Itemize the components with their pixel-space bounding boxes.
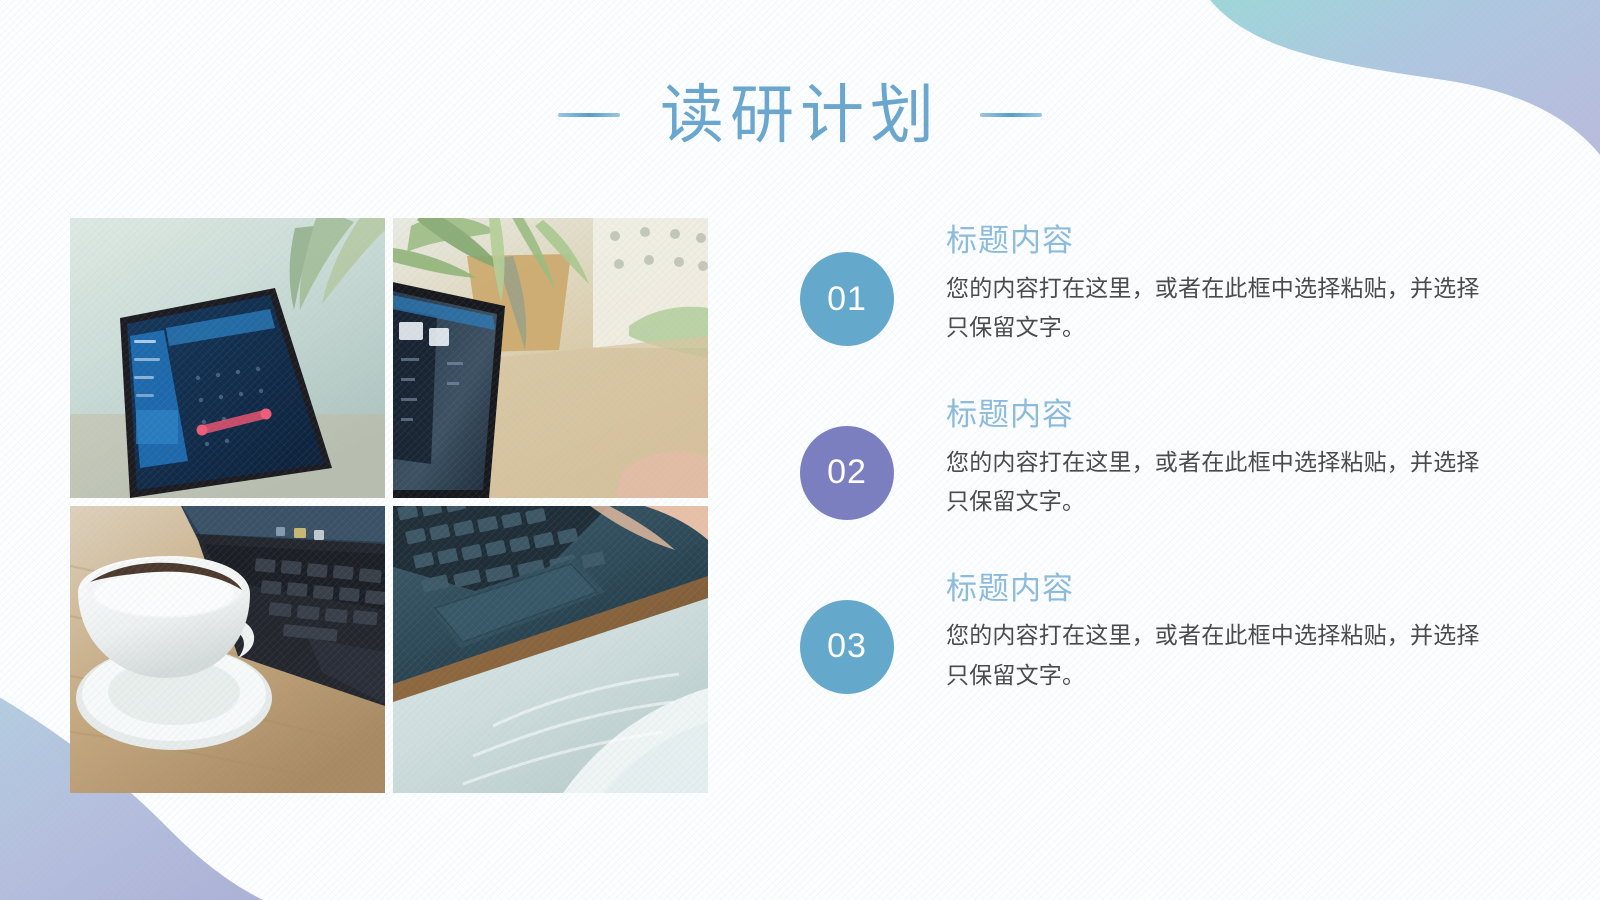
photo-cell-laptop-plant-desk[interactable] (393, 218, 708, 498)
item-number-label: 02 (827, 453, 867, 492)
item-body: 您的内容打在这里，或者在此框中选择粘贴，并选择只保留文字。 (946, 443, 1491, 522)
photo-cell-laptop-calendar-screen[interactable] (70, 218, 385, 498)
photo-cell-laptop-trackpad-hand[interactable] (393, 506, 708, 793)
item-number-label: 03 (827, 627, 867, 666)
item-title: 标题内容 (946, 396, 1491, 435)
item-text-block: 标题内容 您的内容打在这里，或者在此框中选择粘贴，并选择只保留文字。 (946, 570, 1491, 696)
item-number-label: 01 (827, 280, 867, 319)
page-title: 读研计划 (660, 83, 940, 147)
title-dash-right-icon (980, 113, 1042, 117)
item-body: 您的内容打在这里，或者在此框中选择粘贴，并选择只保留文字。 (946, 269, 1491, 348)
presentation-slide: 读研计划 (0, 0, 1600, 900)
item-number-badge-01: 01 (800, 252, 894, 346)
item-text-block: 标题内容 您的内容打在这里，或者在此框中选择粘贴，并选择只保留文字。 (946, 222, 1491, 348)
slide-title-block: 读研计划 (0, 60, 1600, 170)
photo-grid (70, 218, 708, 793)
item-number-badge-03: 03 (800, 600, 894, 694)
item-title: 标题内容 (946, 570, 1491, 609)
content-items-list: 01 标题内容 您的内容打在这里，或者在此框中选择粘贴，并选择只保留文字。 02… (800, 222, 1530, 696)
list-item[interactable]: 01 标题内容 您的内容打在这里，或者在此框中选择粘贴，并选择只保留文字。 (800, 222, 1530, 348)
list-item[interactable]: 02 标题内容 您的内容打在这里，或者在此框中选择粘贴，并选择只保留文字。 (800, 396, 1530, 522)
item-title: 标题内容 (946, 222, 1491, 261)
title-dash-left-icon (558, 113, 620, 117)
list-item[interactable]: 03 标题内容 您的内容打在这里，或者在此框中选择粘贴，并选择只保留文字。 (800, 570, 1530, 696)
item-body: 您的内容打在这里，或者在此框中选择粘贴，并选择只保留文字。 (946, 616, 1491, 695)
item-text-block: 标题内容 您的内容打在这里，或者在此框中选择粘贴，并选择只保留文字。 (946, 396, 1491, 522)
photo-cell-coffee-cup-keyboard[interactable] (70, 506, 385, 793)
item-number-badge-02: 02 (800, 426, 894, 520)
